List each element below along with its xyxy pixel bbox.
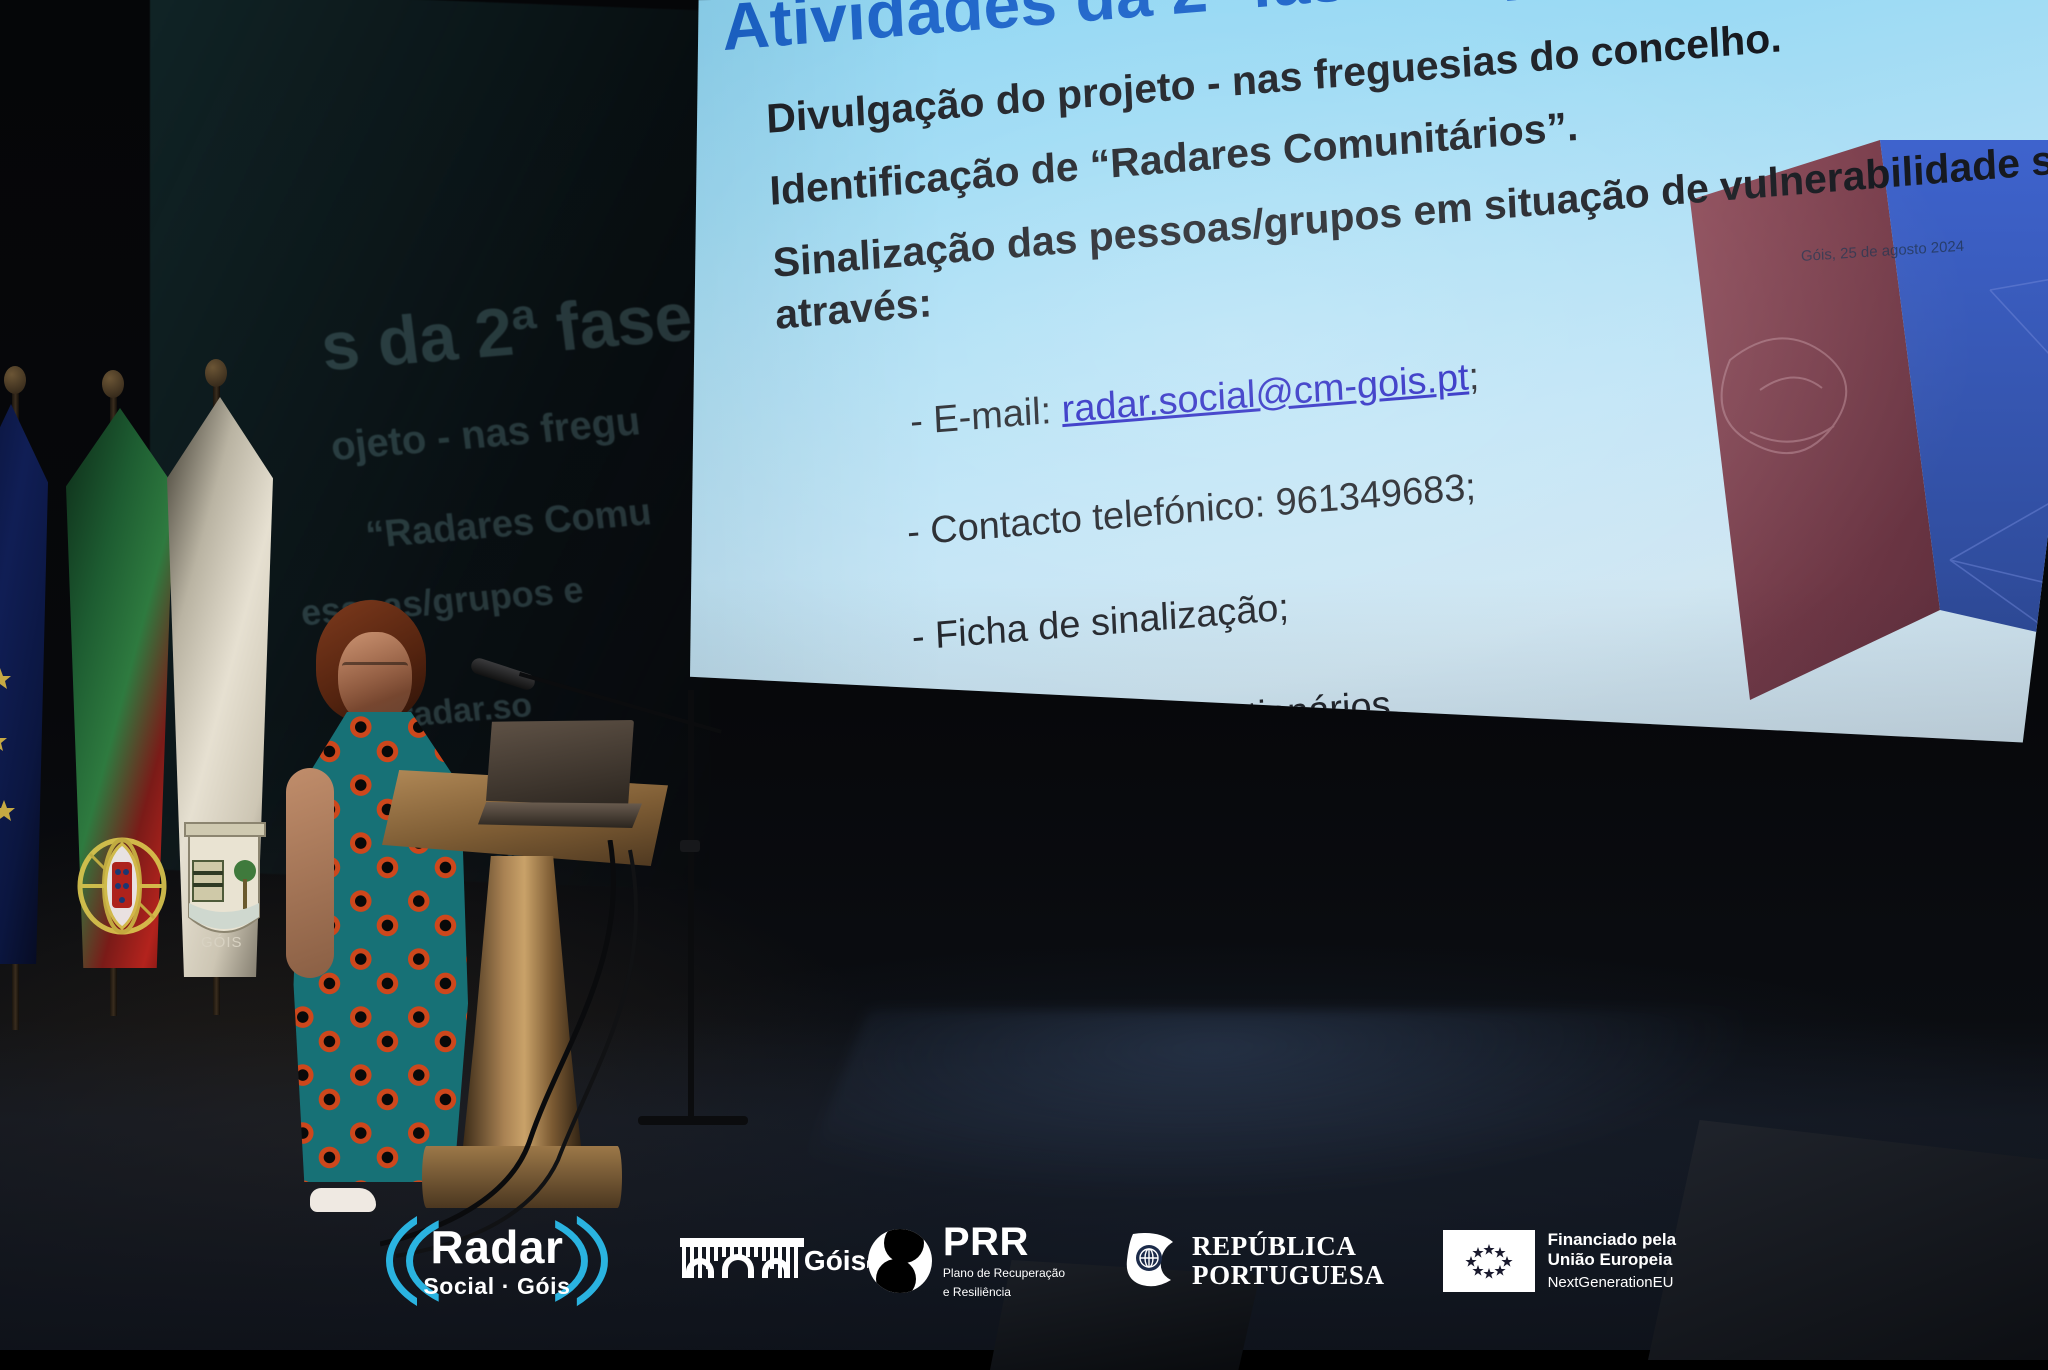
ghost-line: s da 2ª fase bbox=[317, 277, 697, 386]
slide-text-plane: Atividades da 2ª fase do projeto Divulga… bbox=[690, 0, 2048, 1000]
email-tail: ; bbox=[1468, 356, 1480, 399]
presenter-face bbox=[338, 632, 412, 726]
laptop-screen[interactable] bbox=[486, 720, 634, 806]
slide-line-4: através: bbox=[774, 279, 933, 339]
slide-bullet-email-label: - E-mail: bbox=[909, 390, 1052, 443]
email-link[interactable]: radar.social@cm-gois.pt bbox=[1061, 356, 1470, 431]
stage-floor-reflection bbox=[792, 1010, 1769, 1200]
slide-bullet-form: - Ficha de sinalização; bbox=[911, 587, 1290, 660]
flag-finial bbox=[205, 359, 227, 387]
stage-cables bbox=[380, 840, 800, 1260]
ghost-line: “Radares Comu bbox=[363, 491, 653, 558]
presenter-shoe bbox=[310, 1188, 376, 1212]
stage-monitor-speaker bbox=[990, 1260, 1260, 1370]
presenter-glasses bbox=[342, 662, 408, 676]
laptop-keyboard[interactable] bbox=[478, 802, 642, 828]
eu-stars-icon bbox=[0, 660, 48, 890]
slide-date-stamp: Góis, 25 de agosto 2024 bbox=[1801, 238, 1965, 265]
slide-bullet-phone: - Contacto telefónico: 961349683; bbox=[906, 466, 1477, 555]
projected-slide: Atividades da 2ª fase do projeto Divulga… bbox=[690, 0, 2048, 1000]
presenter-laptop bbox=[478, 720, 638, 840]
projection-screen: Atividades da 2ª fase do projeto Divulga… bbox=[690, 0, 2048, 1000]
stage-loudspeaker bbox=[1648, 1120, 2048, 1360]
svg-text:GÓIS: GÓIS bbox=[201, 934, 243, 951]
flag-finial bbox=[102, 370, 124, 398]
stage-scene: s da 2ª fase ojeto - nas fregu “Radares … bbox=[0, 0, 2048, 1350]
slide-bullet-email: - E-mail: radar.social@cm-gois.pt; bbox=[909, 356, 1480, 445]
ghost-line: ojeto - nas fregu bbox=[328, 399, 642, 470]
gois-coat-of-arms-icon: GÓIS bbox=[163, 795, 283, 995]
flag-finial bbox=[4, 366, 26, 394]
podium-microphone bbox=[470, 660, 810, 720]
presenter-arm bbox=[286, 768, 334, 978]
slide-bullet-questionnaires: - Aplicação de questionários. bbox=[916, 683, 1402, 765]
